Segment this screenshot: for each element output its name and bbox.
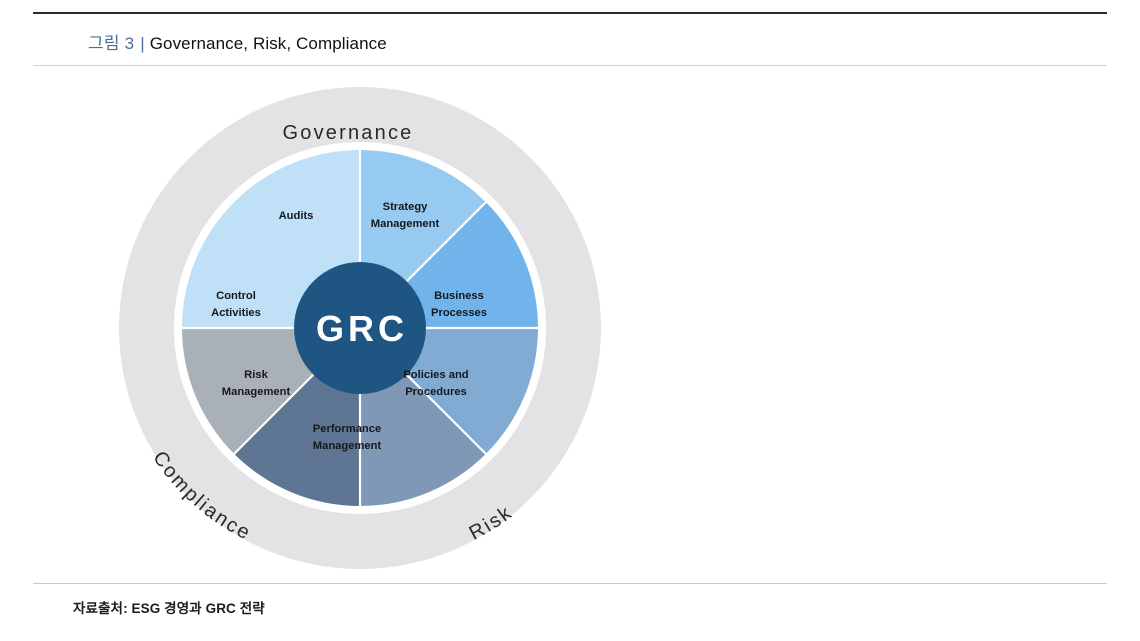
wedge-label-control-activities-line2: Activities [211,307,261,319]
wedge-label-performance-management-line1: Performance [313,423,381,435]
wedge-label-strategy-management-line1: Strategy [383,201,429,213]
wedge-label-business-processes-line2: Processes [431,307,487,319]
wedge-label-performance-management-line2: Management [313,440,382,452]
figure-number-label: 그림 3 [88,29,134,54]
wedge-label-audits: Audits [279,210,314,222]
wedge-label-policies-and-procedures-line2: Procedures [405,386,467,398]
figure-title: 그림 3 | Governance, Risk, Compliance [88,29,387,54]
bottom-divider-rule [33,583,1107,584]
top-divider-rule [33,12,1107,14]
wedge-label-business-processes-line1: Business [434,290,484,302]
title-divider-rule [33,65,1107,66]
wedge-label-policies-and-procedures-line1: Policies and [403,369,468,381]
figure-title-separator: | [140,34,144,54]
page-title: Governance, Risk, Compliance [150,34,387,54]
ring-label-governance: Governance [283,122,414,144]
grc-wheel-diagram: GRC Strategy Management Business Process… [118,86,602,570]
wedge-label-strategy-management-line2: Management [371,218,440,230]
wedge-label-control-activities-line1: Control [216,290,256,302]
wedge-label-risk-management-line1: Risk [244,369,268,381]
source-note: 자료출처: ESG 경영과 GRC 전략 [73,597,265,617]
wedge-label-risk-management-line2: Management [222,386,291,398]
hub-label: GRC [316,308,408,349]
